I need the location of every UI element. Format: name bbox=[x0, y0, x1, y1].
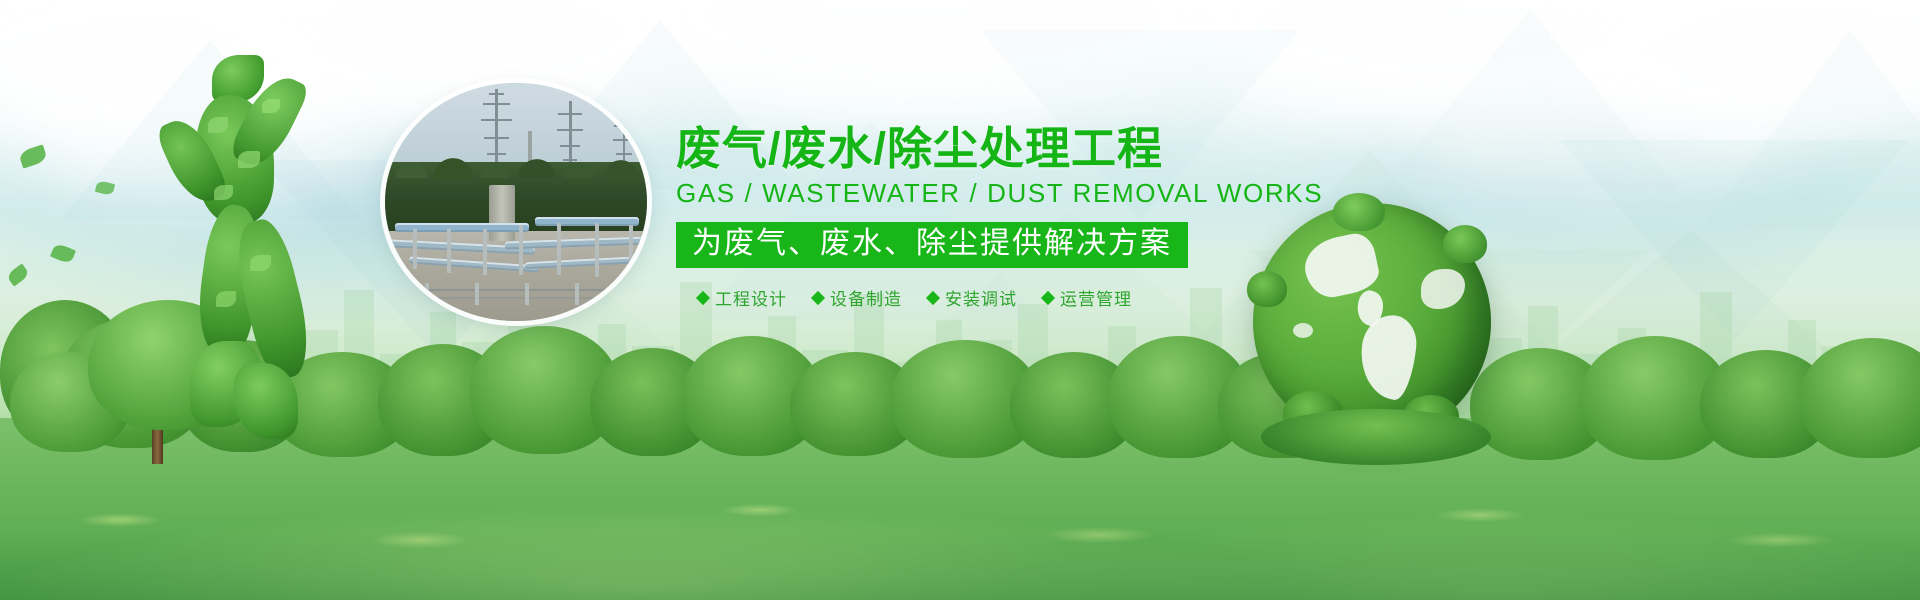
pipe-support bbox=[447, 229, 451, 273]
railing-post bbox=[525, 283, 529, 305]
feature-item: 安装调试 bbox=[928, 285, 1017, 310]
eco-engineering-banner: 废气/废水/除尘处理工程 GAS / WASTEWATER / DUST REM… bbox=[0, 0, 1920, 600]
feature-label: 工程设计 bbox=[715, 285, 787, 310]
diamond-icon bbox=[811, 290, 825, 304]
green-leaf-earth-globe bbox=[1253, 203, 1491, 441]
slogan-bar: 为废气、废水、除尘提供解决方案 bbox=[676, 222, 1188, 268]
treatment-pipe bbox=[535, 217, 639, 226]
diamond-icon bbox=[1041, 290, 1055, 304]
pipe-support bbox=[483, 229, 487, 275]
pipe-support bbox=[595, 223, 599, 277]
feature-item: 设备制造 bbox=[813, 285, 902, 310]
feature-label: 安装调试 bbox=[945, 285, 1017, 310]
feature-label: 设备制造 bbox=[830, 285, 902, 310]
globe-leaf-tuft bbox=[1333, 193, 1385, 231]
railing-post bbox=[425, 283, 429, 305]
wastewater-treatment-plant-photo bbox=[385, 83, 647, 321]
feature-item: 工程设计 bbox=[698, 285, 787, 310]
pipe-support bbox=[413, 229, 417, 269]
globe-island bbox=[1293, 323, 1313, 338]
feature-list: 工程设计 设备制造 安装调试 运营管理 bbox=[676, 285, 1196, 310]
pipe-support bbox=[519, 225, 523, 275]
globe-leaf-tuft bbox=[1443, 225, 1487, 263]
diamond-icon bbox=[926, 290, 940, 304]
running-leaf-man-figure bbox=[150, 55, 360, 475]
diamond-icon bbox=[696, 290, 710, 304]
slogan-text: 为废气、废水、除尘提供解决方案 bbox=[692, 229, 1172, 259]
cloud bbox=[1420, 80, 1800, 200]
railing-post bbox=[621, 283, 625, 305]
headline-text-block: 废气/废水/除尘处理工程 GAS / WASTEWATER / DUST REM… bbox=[676, 126, 1196, 310]
page-title: 废气/废水/除尘处理工程 bbox=[676, 126, 1196, 171]
feature-item: 运营管理 bbox=[1043, 285, 1132, 310]
railing-post bbox=[575, 283, 579, 305]
feature-label: 运营管理 bbox=[1060, 285, 1132, 310]
pipe-support bbox=[557, 223, 561, 275]
pipe-support bbox=[629, 225, 633, 277]
treatment-tank bbox=[489, 185, 515, 241]
globe-leaf-tuft bbox=[1247, 271, 1287, 307]
globe-base-foliage bbox=[1261, 409, 1491, 465]
railing-post bbox=[475, 283, 479, 305]
english-subtitle: GAS / WASTEWATER / DUST REMOVAL WORKS bbox=[676, 180, 1196, 206]
